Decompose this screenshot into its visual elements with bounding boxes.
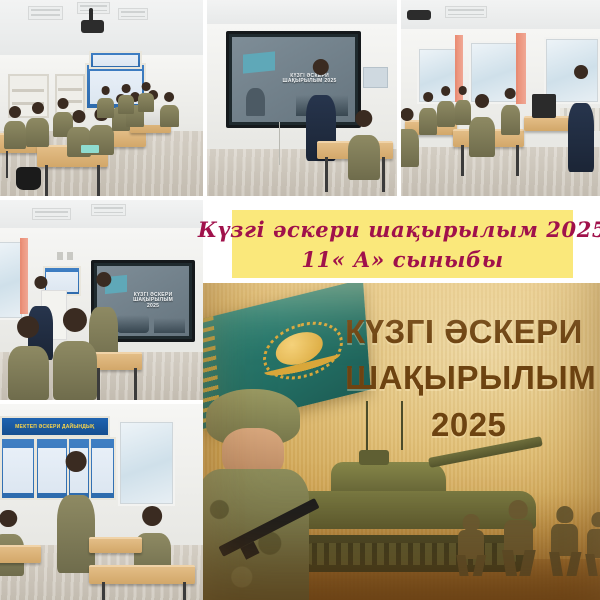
seated-student xyxy=(348,110,380,181)
photo-standing-student-wall-posters: МЕКТЕП ӘСКЕРИ ДАЙЫНДЫҚ xyxy=(0,404,203,600)
ceiling-vent-icon xyxy=(28,6,62,20)
wall-information-board xyxy=(89,51,142,69)
wall-information-board xyxy=(0,437,36,500)
ceiling-vent-icon xyxy=(32,208,71,220)
photo-classroom-windows xyxy=(401,0,600,196)
standing-speaker xyxy=(568,65,594,173)
projector-mount xyxy=(89,8,93,22)
school-desk xyxy=(89,537,142,553)
seated-student xyxy=(53,308,98,400)
caption-line-2: 11« А» сыныбы xyxy=(301,247,503,272)
ceiling-vent-icon xyxy=(77,2,109,14)
projector-icon xyxy=(407,10,431,20)
photo-presentation-two-speakers: КҮЗГІ ӘСКЕРИ ШАҚЫРЫЛЫМ 2025 xyxy=(0,200,203,400)
slide-title: КҮЗГІ ӘСКЕРИ ШАҚЫРЫЛЫМ 2025 xyxy=(127,293,180,309)
projection-screen: КҮЗГІ ӘСКЕРИ ШАҚЫРЫЛЫМ 2025 xyxy=(226,31,361,127)
poster-vignette xyxy=(203,283,600,600)
standing-student xyxy=(57,451,96,573)
school-desk xyxy=(89,565,195,585)
seated-student xyxy=(0,510,24,577)
window xyxy=(118,420,175,506)
photo-speaker-projector-screen: КҮЗГІ ӘСКЕРИ ШАҚЫРЫЛЫМ 2025 xyxy=(207,0,397,196)
projector-icon xyxy=(81,20,103,34)
photo-classroom-students-seated xyxy=(0,0,203,196)
ceiling-vent-icon xyxy=(445,6,487,18)
ceiling-vent-icon xyxy=(91,204,125,216)
recruitment-poster: КҮЗГІ ӘСКЕРИ ШАҚЫРЫЛЫМ 2025 xyxy=(203,283,600,600)
photo-collage: КҮЗГІ ӘСКЕРИ ШАҚЫРЫЛЫМ 2025 xyxy=(0,0,600,600)
seated-student xyxy=(8,316,49,400)
wall-poster-title: МЕКТЕП ӘСКЕРИ ДАЙЫНДЫҚ xyxy=(15,424,94,430)
ceiling-vent-icon xyxy=(118,8,148,20)
school-desk xyxy=(0,545,41,563)
caption-line-1: Күзгі әскери шақырылым 2025 xyxy=(198,217,600,242)
caption-banner: Күзгі әскери шақырылым 2025 11« А» сыныб… xyxy=(232,210,573,278)
